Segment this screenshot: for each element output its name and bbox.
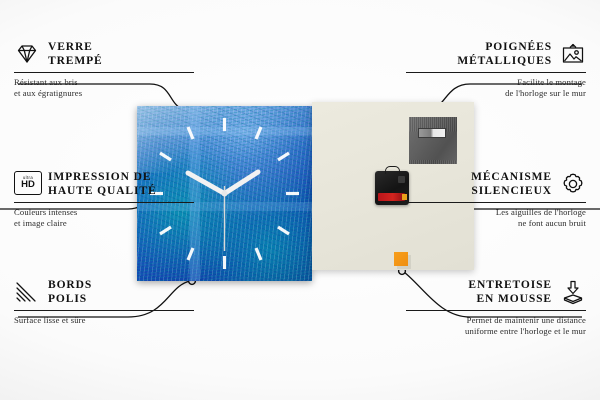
picture-frame-hanger-icon bbox=[560, 41, 586, 67]
divider bbox=[406, 72, 586, 73]
metal-hanging-bracket bbox=[409, 117, 457, 164]
feature-title: BORDS POLIS bbox=[48, 278, 92, 306]
mechanism-hook bbox=[385, 166, 400, 174]
diamond-icon bbox=[14, 41, 40, 67]
feature-title: VERRE TREMPÉ bbox=[48, 40, 103, 68]
foam-spacer-arrow-icon bbox=[560, 279, 586, 305]
feature-mecanisme-silencieux: MÉCANISME SILENCIEUX Les aiguilles de l'… bbox=[406, 170, 586, 230]
divider bbox=[406, 202, 586, 203]
feature-verre-trempe: VERRE TREMPÉ Résistant aux bris et aux é… bbox=[14, 40, 194, 100]
feature-title: POIGNÉES MÉTALLIQUES bbox=[457, 40, 552, 68]
clock-center-cap bbox=[222, 191, 228, 197]
feature-subtitle: Permet de maintenir une distance uniform… bbox=[406, 315, 586, 338]
feature-title: MÉCANISME SILENCIEUX bbox=[471, 170, 552, 198]
foam-spacer bbox=[394, 252, 408, 266]
mechanism-knob bbox=[398, 176, 405, 183]
feature-subtitle: Les aiguilles de l'horloge ne font aucun… bbox=[406, 207, 586, 230]
divider bbox=[406, 310, 586, 311]
gear-icon bbox=[560, 171, 586, 197]
divider bbox=[14, 202, 194, 203]
feature-title: ENTRETOISE EN MOUSSE bbox=[468, 278, 552, 306]
clock-minute-hand bbox=[225, 172, 259, 194]
feature-impression-haute-qualite: ultra HD IMPRESSION DE HAUTE QUALITÉ Cou… bbox=[14, 170, 194, 230]
product-infographic: VERRE TREMPÉ Résistant aux bris et aux é… bbox=[0, 0, 600, 400]
battery bbox=[378, 193, 405, 201]
bracket-slot bbox=[418, 128, 446, 138]
feature-entretoise-en-mousse: ENTRETOISE EN MOUSSE Permet de maintenir… bbox=[406, 278, 586, 338]
divider bbox=[14, 310, 194, 311]
feature-title: IMPRESSION DE HAUTE QUALITÉ bbox=[48, 170, 157, 198]
polished-edges-icon bbox=[14, 279, 40, 305]
silent-clock-mechanism bbox=[375, 171, 409, 205]
feature-subtitle: Facilite le montage de l'horloge sur le … bbox=[406, 77, 586, 100]
feature-bords-polis: BORDS POLIS Surface lisse et sûre bbox=[14, 278, 194, 326]
divider bbox=[14, 72, 194, 73]
feature-subtitle: Résistant aux bris et aux égratignures bbox=[14, 77, 194, 100]
ultra-hd-badge-icon: ultra HD bbox=[14, 171, 40, 197]
feature-subtitle: Couleurs intenses et image claire bbox=[14, 207, 194, 230]
feature-subtitle: Surface lisse et sûre bbox=[14, 315, 194, 326]
feature-poignees-metalliques: POIGNÉES MÉTALLIQUES Facilite le montage… bbox=[406, 40, 586, 100]
